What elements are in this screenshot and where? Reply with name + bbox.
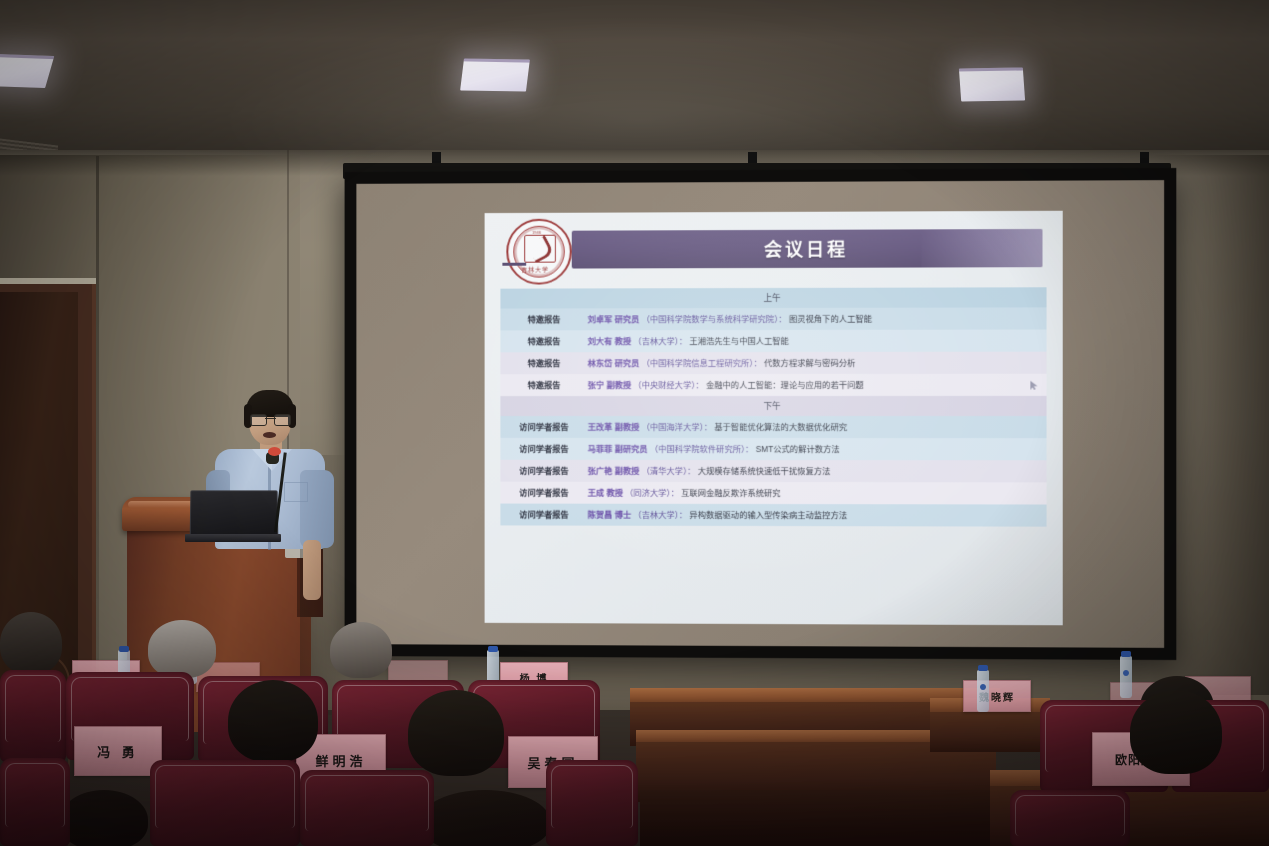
seat-piping <box>1015 795 1125 836</box>
speaker-name: 张广艳 副教授 <box>588 466 642 476</box>
speaker-affiliation: （中国科学院信息工程研究所）： <box>642 358 762 368</box>
audience-head <box>60 790 148 846</box>
seat-piping <box>305 775 429 831</box>
agenda-row: 特邀报告张宁 副教授 （中央财经大学）： 金融中的人工智能：理论与应用的若干问题 <box>500 374 1046 396</box>
talk-title: SMT公式的解计数方法 <box>753 444 839 454</box>
jilin-university-seal-icon: 1946 吉林大学 <box>506 219 571 285</box>
agenda-section-label: 下午 <box>500 396 1046 416</box>
agenda-row-detail: 刘卓军 研究员 （中国科学院数学与系统科学研究院）： 图灵视角下的人工智能 <box>588 307 1047 330</box>
agenda-row: 访问学者报告张广艳 副教授 （清华大学）： 大规模存储系统快速低干扰恢复方法 <box>500 460 1046 483</box>
agenda-row-detail: 林东岱 研究员 （中国科学院信息工程研究所）： 代数方程求解与密码分析 <box>588 352 1047 374</box>
speaker-hair <box>246 390 294 417</box>
speaker-affiliation: （中央财经大学）： <box>633 380 703 390</box>
bottle-logo <box>980 684 986 690</box>
banner-gloss <box>921 229 1042 268</box>
bottle-cap <box>119 646 129 652</box>
speaker-affiliation: （中国科学院数学与系统科学研究院）： <box>642 314 787 324</box>
projection-screen: 1946 吉林大学 会议日程 上午特邀报告刘卓军 研究员 （中国科学院数学与系统… <box>345 168 1177 660</box>
projected-slide: 1946 吉林大学 会议日程 上午特邀报告刘卓军 研究员 （中国科学院数学与系统… <box>485 211 1063 626</box>
audience-head <box>408 690 504 776</box>
auditorium-seat <box>1010 790 1130 846</box>
speaker-name: 刘大有 教授 <box>588 336 634 346</box>
talk-title: 大规模存储系统快速低干扰恢复方法 <box>695 466 830 476</box>
glasses-bridge <box>265 418 276 419</box>
auditorium-seat <box>300 770 434 846</box>
talk-title: 图灵视角下的人工智能 <box>787 314 872 324</box>
speaker-name: 林东岱 研究员 <box>588 358 642 368</box>
agenda-row-type: 访问学者报告 <box>500 482 587 504</box>
agenda-section-header: 下午 <box>500 396 1046 416</box>
agenda-row: 访问学者报告马菲菲 副研究员 （中国科学院软件研究所）： SMT公式的解计数方法 <box>500 438 1046 460</box>
audience-head <box>420 790 550 846</box>
agenda-row-type: 特邀报告 <box>500 352 587 374</box>
speaker-name: 马菲菲 副研究员 <box>588 444 650 454</box>
speaker-name: 刘卓军 研究员 <box>588 314 642 324</box>
agenda-row-type: 访问学者报告 <box>500 460 587 482</box>
ceiling-light-panel <box>0 54 54 88</box>
slide-title-banner: 会议日程 <box>572 229 1043 269</box>
seat-piping <box>5 763 65 827</box>
laptop-screen[interactable] <box>190 490 279 540</box>
seal-name: 吉林大学 <box>521 265 549 274</box>
slide-accent-dash <box>502 263 526 266</box>
auditorium-seat <box>150 760 300 846</box>
seat-piping <box>155 765 295 828</box>
talk-title: 互联网金融反欺诈系统研究 <box>679 488 781 498</box>
agenda-section-header: 上午 <box>500 287 1046 308</box>
slide-title: 会议日程 <box>764 236 848 262</box>
speaker-affiliation: （中国科学院软件研究所）： <box>650 444 753 454</box>
speaker-affiliation: （清华大学）： <box>642 466 696 476</box>
agenda-row-detail: 刘大有 教授 （吉林大学）： 王湘浩先生与中国人工智能 <box>588 330 1047 353</box>
shirt-pocket <box>284 482 308 502</box>
laptop-base <box>185 534 281 542</box>
name-placard: 冯 勇 <box>74 726 162 776</box>
auditorium-seat <box>546 760 638 846</box>
ceiling-light-panel <box>460 58 530 91</box>
talk-title: 代数方程求解与密码分析 <box>762 358 856 368</box>
auditorium-seat <box>0 670 66 762</box>
talk-title: 异构数据驱动的输入型传染病主动监控方法 <box>687 510 847 520</box>
talk-title: 王湘浩先生与中国人工智能 <box>687 336 789 346</box>
seat-piping <box>551 765 633 828</box>
agenda-row-detail: 张广艳 副教授 （清华大学）： 大规模存储系统快速低干扰恢复方法 <box>588 460 1047 483</box>
speaker-affiliation: （同济大学）： <box>625 488 679 498</box>
ceiling-light-panel <box>959 67 1025 101</box>
agenda-row: 特邀报告刘卓军 研究员 （中国科学院数学与系统科学研究院）： 图灵视角下的人工智… <box>500 307 1046 330</box>
wall-seam <box>96 156 99 676</box>
agenda-row: 访问学者报告陈贺昌 博士 （吉林大学）： 异构数据驱动的输入型传染病主动监控方法 <box>500 504 1046 527</box>
bottle-cap <box>1121 651 1131 657</box>
audience-head <box>330 622 392 678</box>
seat-piping <box>5 675 61 742</box>
agenda-row: 特邀报告刘大有 教授 （吉林大学）： 王湘浩先生与中国人工智能 <box>500 330 1046 353</box>
screen-surface: 1946 吉林大学 会议日程 上午特邀报告刘卓军 研究员 （中国科学院数学与系统… <box>356 180 1164 648</box>
desk-front <box>930 712 1050 752</box>
agenda-row-detail: 王改革 副教授 （中国海洋大学）： 基于智能优化算法的大数据优化研究 <box>588 416 1047 438</box>
speaker-mouth <box>263 432 276 438</box>
speaker-name: 张宁 副教授 <box>588 380 634 390</box>
agenda-row: 访问学者报告王改革 副教授 （中国海洋大学）： 基于智能优化算法的大数据优化研究 <box>500 416 1046 438</box>
audience-head <box>0 612 62 674</box>
bottle-logo <box>1123 670 1129 676</box>
water-bottle <box>977 670 989 712</box>
speaker-name: 王改革 副教授 <box>588 422 642 432</box>
agenda-row-type: 特邀报告 <box>500 374 587 396</box>
lecture-hall-photo: 1946 吉林大学 会议日程 上午特邀报告刘卓军 研究员 （中国科学院数学与系统… <box>0 0 1269 846</box>
speaker-name: 陈贺昌 博士 <box>588 509 634 519</box>
agenda-row-type: 访问学者报告 <box>500 438 587 460</box>
water-bottle <box>487 650 499 684</box>
agenda-row-type: 特邀报告 <box>500 308 587 330</box>
bottle-cap <box>978 665 988 671</box>
agenda-row: 特邀报告林东岱 研究员 （中国科学院信息工程研究所）： 代数方程求解与密码分析 <box>500 352 1046 375</box>
microphone-icon <box>268 447 281 456</box>
agenda-row: 访问学者报告王成 教授 （同济大学）： 互联网金融反欺诈系统研究 <box>500 482 1046 505</box>
bottle-cap <box>488 646 498 652</box>
speaker-affiliation: （中国海洋大学）： <box>642 422 712 432</box>
auditorium-seat <box>0 758 70 846</box>
speaker-affiliation: （吉林大学）： <box>633 336 687 346</box>
agenda-row-type: 访问学者报告 <box>500 504 587 526</box>
speaker-right-arm <box>303 540 321 600</box>
seal-year: 1946 <box>532 230 541 235</box>
agenda-row-detail: 王成 教授 （同济大学）： 互联网金融反欺诈系统研究 <box>588 482 1047 505</box>
audience-head <box>1130 690 1222 774</box>
agenda-row-detail: 陈贺昌 博士 （吉林大学）： 异构数据驱动的输入型传染病主动监控方法 <box>588 504 1047 527</box>
agenda-row-detail: 马菲菲 副研究员 （中国科学院软件研究所）： SMT公式的解计数方法 <box>588 438 1047 460</box>
speaker-name: 王成 教授 <box>588 488 626 498</box>
agenda-row-detail: 张宁 副教授 （中央财经大学）： 金融中的人工智能：理论与应用的若干问题 <box>588 374 1047 396</box>
agenda-row-type: 特邀报告 <box>500 330 587 352</box>
agenda-section-label: 上午 <box>500 287 1046 308</box>
audience-head <box>228 680 318 762</box>
audience-head <box>148 620 216 678</box>
talk-title: 基于智能优化算法的大数据优化研究 <box>712 422 847 432</box>
agenda-table: 上午特邀报告刘卓军 研究员 （中国科学院数学与系统科学研究院）： 图灵视角下的人… <box>500 287 1046 526</box>
desk-front <box>640 790 996 846</box>
name-placard: 魏晓辉 <box>963 680 1031 712</box>
agenda-row-type: 访问学者报告 <box>500 416 587 438</box>
water-bottle <box>1120 656 1132 698</box>
talk-title: 金融中的人工智能：理论与应用的若干问题 <box>704 380 864 390</box>
speaker-affiliation: （吉林大学）： <box>633 510 687 520</box>
